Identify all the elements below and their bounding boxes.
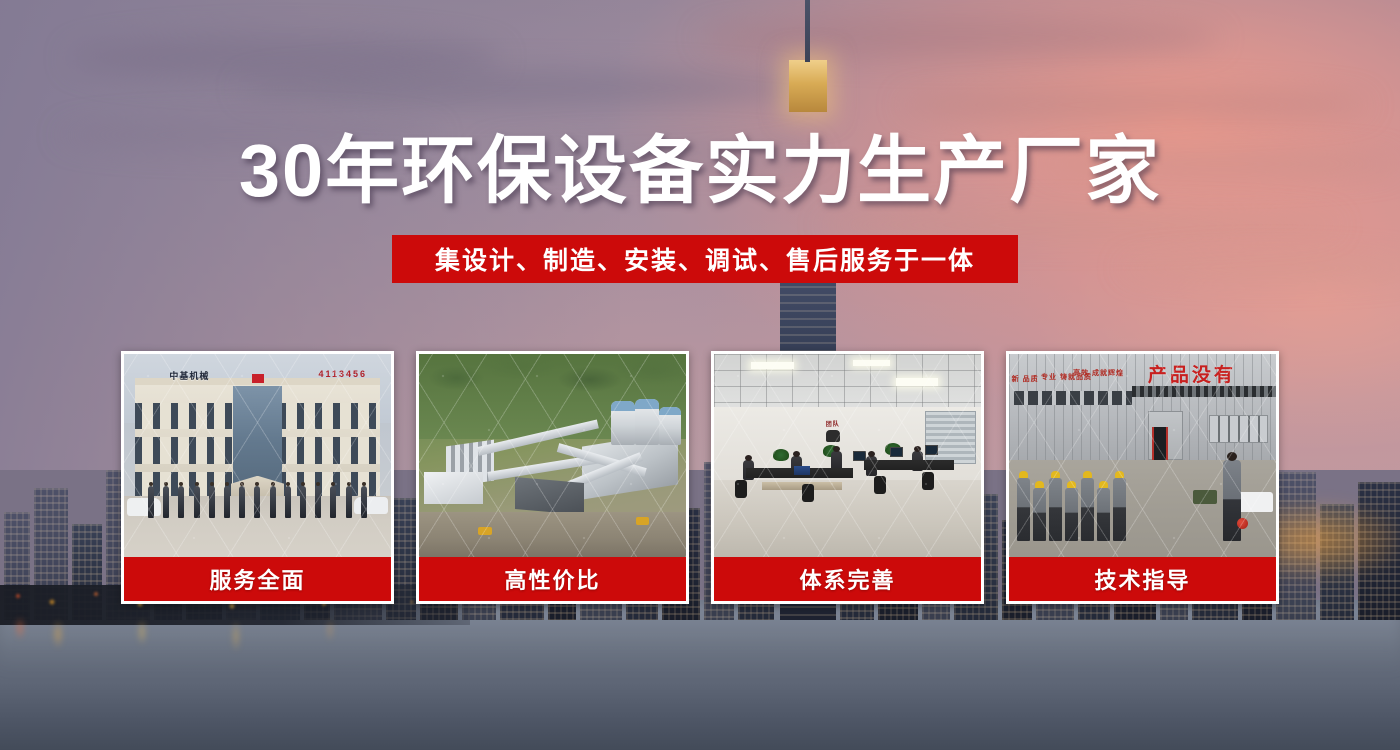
ceiling-light: [751, 362, 794, 369]
wall-decal: 团队: [810, 419, 855, 447]
chair-shape: [802, 484, 814, 502]
factory-workers-training-photo: 产品没有 新 品质 专业 铸就品质 高效 成就辉煌: [1009, 354, 1276, 557]
building-phone-text: 4113456: [318, 369, 367, 379]
card-label-text: 体系完善: [799, 563, 895, 595]
excavator-shape: [478, 527, 492, 535]
supervisor-figure: [1223, 460, 1241, 541]
silo-shape: [611, 401, 635, 446]
flag-icon: [252, 374, 264, 383]
feature-card-list: 中基机械 4113456 服务全面: [121, 351, 1279, 604]
feature-card[interactable]: 产品没有 新 品质 专业 铸就品质 高效 成就辉煌: [1006, 351, 1279, 604]
ceiling-light: [853, 360, 890, 366]
window-blinds: [925, 411, 976, 464]
silo-shape: [659, 407, 680, 446]
riverbank-light-reflections: [0, 618, 430, 664]
silo-shape: [635, 399, 659, 446]
aerial-industrial-plant-photo: [419, 354, 686, 557]
card-label-text: 服务全面: [209, 563, 305, 595]
promo-banner: 30年环保设备实力生产厂家 集设计、制造、安装、调试、售后服务于一体 中基机械 …: [0, 0, 1400, 750]
monitor-shape: [925, 445, 938, 455]
tower-spire: [805, 0, 810, 62]
card-label-band: 技术指导: [1009, 557, 1276, 601]
worker-crew: [1017, 468, 1140, 541]
tower-crown-light: [789, 60, 827, 112]
red-helmet-icon: [1237, 518, 1248, 529]
building-sign-text: 中基机械: [169, 369, 209, 382]
feature-card[interactable]: 高性价比: [416, 351, 689, 604]
office-interior-photo: 团队: [714, 354, 981, 557]
card-label-text: 高性价比: [504, 563, 600, 595]
wall-slogan: 新 品质: [1012, 376, 1039, 384]
card-label-text: 技术指导: [1094, 563, 1190, 595]
feature-card[interactable]: 团队: [711, 351, 984, 604]
company-headquarters-photo: 中基机械 4113456: [124, 354, 391, 557]
card-label-band: 高性价比: [419, 557, 686, 601]
monitor-shape: [890, 447, 903, 457]
subtitle-banner: 集设计、制造、安装、调试、售后服务于一体: [392, 235, 1018, 283]
plant-shape: [773, 449, 789, 461]
wall-banner-text: 产品没有: [1148, 360, 1276, 386]
chair-shape: [874, 476, 886, 494]
chair-shape: [735, 480, 747, 498]
wall-slogan: 高效 成就辉煌: [1073, 370, 1124, 378]
ceiling-light: [896, 378, 939, 386]
chair-shape: [922, 472, 934, 490]
feature-card[interactable]: 中基机械 4113456 服务全面: [121, 351, 394, 604]
page-title: 30年环保设备实力生产厂家: [0, 134, 1400, 208]
cart-shape: [1193, 490, 1217, 504]
card-label-band: 服务全面: [124, 557, 391, 601]
laptop-shape: [794, 466, 810, 475]
subtitle-text: 集设计、制造、安装、调试、售后服务于一体: [435, 241, 975, 277]
cloud-band: [900, 88, 1370, 122]
excavator-shape: [636, 517, 649, 525]
cloud-band: [700, 18, 1220, 58]
card-label-band: 体系完善: [714, 557, 981, 601]
staff-row: [148, 486, 367, 518]
